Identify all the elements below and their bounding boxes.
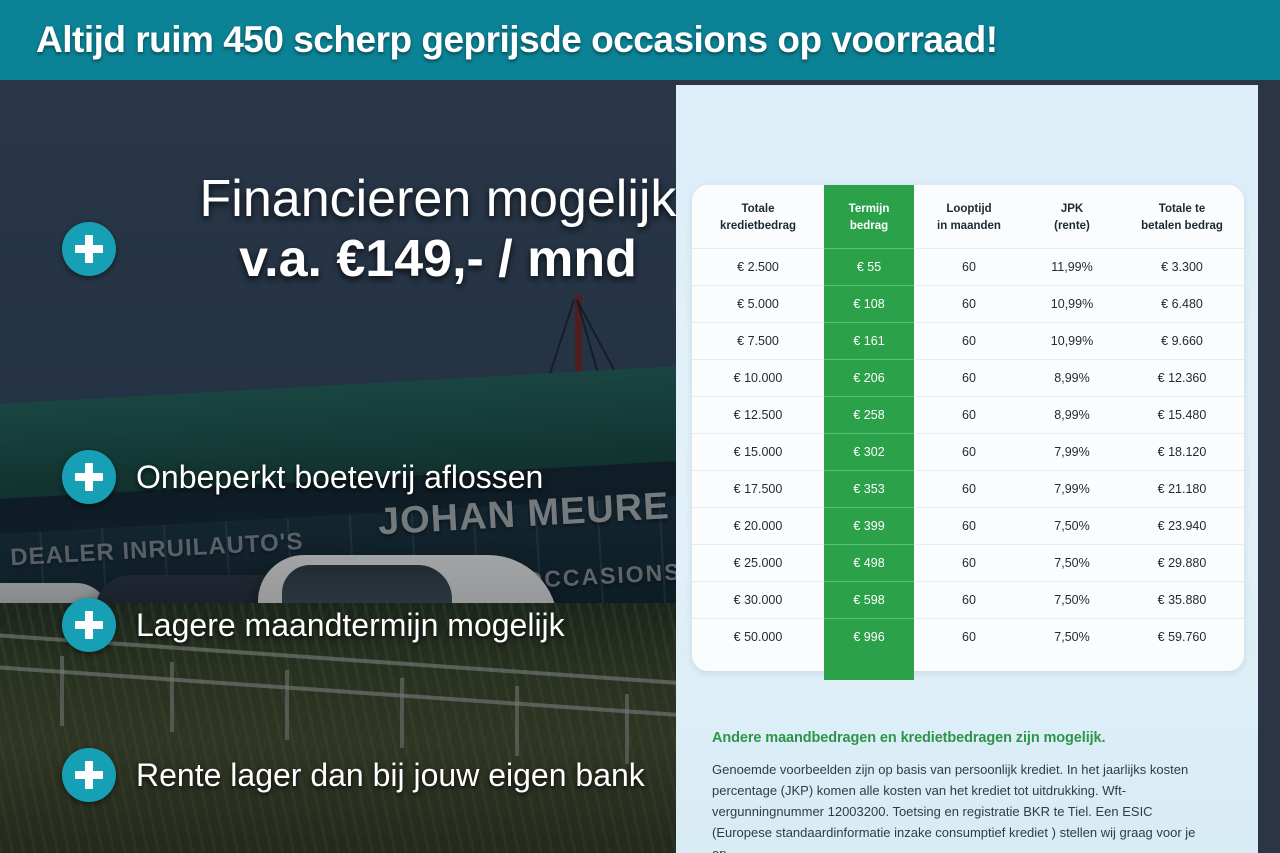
table-cell: € 161 [824,323,914,360]
table-row: € 17.500€ 353607,99%€ 21.180 [692,471,1244,508]
table-cell: € 7.500 [692,323,824,360]
table-cell: € 10.000 [692,360,824,397]
body-frame: JOHAN MEURE DEALER INRUILAUTO'S ALTIJD 4… [0,80,1280,853]
table-cell: 60 [914,545,1024,582]
plus-icon [62,222,116,276]
column-header-line1: Totale te [1159,203,1205,215]
table-cell: € 35.880 [1120,582,1244,619]
column-header-line1: Looptijd [946,203,991,215]
table-row: € 5.000€ 1086010,99%€ 6.480 [692,286,1244,323]
table-cell: € 498 [824,545,914,582]
table-row: € 10.000€ 206608,99%€ 12.360 [692,360,1244,397]
table-cell: 7,50% [1024,508,1120,545]
table-row: € 7.500€ 1616010,99%€ 9.660 [692,323,1244,360]
column-header-0: Totale kredietbedrag [692,185,824,249]
top-banner: Altijd ruim 450 scherp geprijsde occasio… [0,0,1280,80]
table-cell: € 29.880 [1120,545,1244,582]
table-cell: 11,99% [1024,249,1120,286]
table-cell: 10,99% [1024,323,1120,360]
table-cell: € 108 [824,286,914,323]
table-cell: 60 [914,508,1024,545]
promo-headline-line2: v.a. €149,- / mnd [148,227,728,292]
table-cell: € 598 [824,582,914,619]
table-cell: 60 [914,249,1024,286]
plus-icon [62,598,116,652]
rate-table-body: € 2.500€ 556011,99%€ 3.300€ 5.000€ 10860… [692,249,1244,656]
table-cell: € 18.120 [1120,434,1244,471]
promo-headline-lines: Financieren mogelijk v.a. €149,- / mnd [148,172,728,292]
disclaimer-body: Genoemde voorbeelden zijn op basis van p… [712,759,1212,853]
table-cell: € 55 [824,249,914,286]
feature-label: Rente lager dan bij jouw eigen bank [136,757,645,794]
table-cell: 60 [914,323,1024,360]
table-cell: 60 [914,397,1024,434]
table-cell: € 12.500 [692,397,824,434]
table-cell: € 59.760 [1120,619,1244,656]
column-header-2: Looptijd in maanden [914,185,1024,249]
table-cell: 60 [914,286,1024,323]
column-header-line1: Totale [741,203,774,215]
advertisement-banner: Altijd ruim 450 scherp geprijsde occasio… [0,0,1280,853]
feature-label: Onbeperkt boetevrij aflossen [136,459,543,496]
table-cell: € 302 [824,434,914,471]
promo-headline-line1: Financieren mogelijk [148,172,728,227]
table-row: € 15.000€ 302607,99%€ 18.120 [692,434,1244,471]
table-cell: € 23.940 [1120,508,1244,545]
table-row: € 30.000€ 598607,50%€ 35.880 [692,582,1244,619]
disclaimer-block: Andere maandbedragen en kredietbedragen … [712,730,1212,853]
table-cell: 7,99% [1024,434,1120,471]
table-cell: € 6.480 [1120,286,1244,323]
column-header-line2: betalen bedrag [1141,220,1223,232]
column-header-3: JPK (rente) [1024,185,1120,249]
column-header-line2: in maanden [937,220,1001,232]
table-cell: € 206 [824,360,914,397]
column-header-line1: Termijn [849,203,890,215]
table-cell: 60 [914,360,1024,397]
feature-item-0: Onbeperkt boetevrij aflossen [62,450,543,504]
rate-table: Totale kredietbedrag Termijn bedrag Loop… [692,185,1244,655]
table-row: € 50.000€ 996607,50%€ 59.760 [692,619,1244,656]
table-cell: € 996 [824,619,914,656]
feature-list: Financieren mogelijk v.a. €149,- / mnd O… [0,80,676,848]
table-cell: € 17.500 [692,471,824,508]
table-cell: € 15.000 [692,434,824,471]
table-cell: € 25.000 [692,545,824,582]
column-header-line2: bedrag [850,220,888,232]
table-cell: € 12.360 [1120,360,1244,397]
table-row: € 25.000€ 498607,50%€ 29.880 [692,545,1244,582]
table-cell: 7,50% [1024,619,1120,656]
table-cell: 10,99% [1024,286,1120,323]
table-cell: 7,99% [1024,471,1120,508]
table-cell: € 5.000 [692,286,824,323]
table-cell: 60 [914,619,1024,656]
table-cell: € 50.000 [692,619,824,656]
table-cell: € 20.000 [692,508,824,545]
finance-info-panel: Totale kredietbedrag Termijn bedrag Loop… [676,85,1258,853]
rate-table-header-row: Totale kredietbedrag Termijn bedrag Loop… [692,185,1244,249]
column-header-line2: (rente) [1054,220,1090,232]
column-header-line2: kredietbedrag [720,220,796,232]
table-cell: € 9.660 [1120,323,1244,360]
plus-icon [62,748,116,802]
table-cell: € 30.000 [692,582,824,619]
table-cell: 8,99% [1024,360,1120,397]
table-cell: 60 [914,471,1024,508]
table-cell: € 3.300 [1120,249,1244,286]
table-cell: € 399 [824,508,914,545]
feature-item-1: Lagere maandtermijn mogelijk [62,598,565,652]
disclaimer-title: Andere maandbedragen en kredietbedragen … [712,730,1212,746]
table-cell: 60 [914,434,1024,471]
plus-icon [62,450,116,504]
table-cell: € 353 [824,471,914,508]
feature-item-2: Rente lager dan bij jouw eigen bank [62,748,645,802]
table-cell: 8,99% [1024,397,1120,434]
table-row: € 2.500€ 556011,99%€ 3.300 [692,249,1244,286]
column-header-1: Termijn bedrag [824,185,914,249]
table-row: € 12.500€ 258608,99%€ 15.480 [692,397,1244,434]
banner-headline: Altijd ruim 450 scherp geprijsde occasio… [0,19,998,61]
table-row: € 20.000€ 399607,50%€ 23.940 [692,508,1244,545]
column-header-4: Totale te betalen bedrag [1120,185,1244,249]
table-cell: 7,50% [1024,582,1120,619]
table-cell: € 2.500 [692,249,824,286]
table-cell: 7,50% [1024,545,1120,582]
table-cell: € 15.480 [1120,397,1244,434]
feature-label: Lagere maandtermijn mogelijk [136,607,565,644]
table-cell: € 21.180 [1120,471,1244,508]
column-header-line1: JPK [1061,203,1083,215]
table-cell: € 258 [824,397,914,434]
table-cell: 60 [914,582,1024,619]
